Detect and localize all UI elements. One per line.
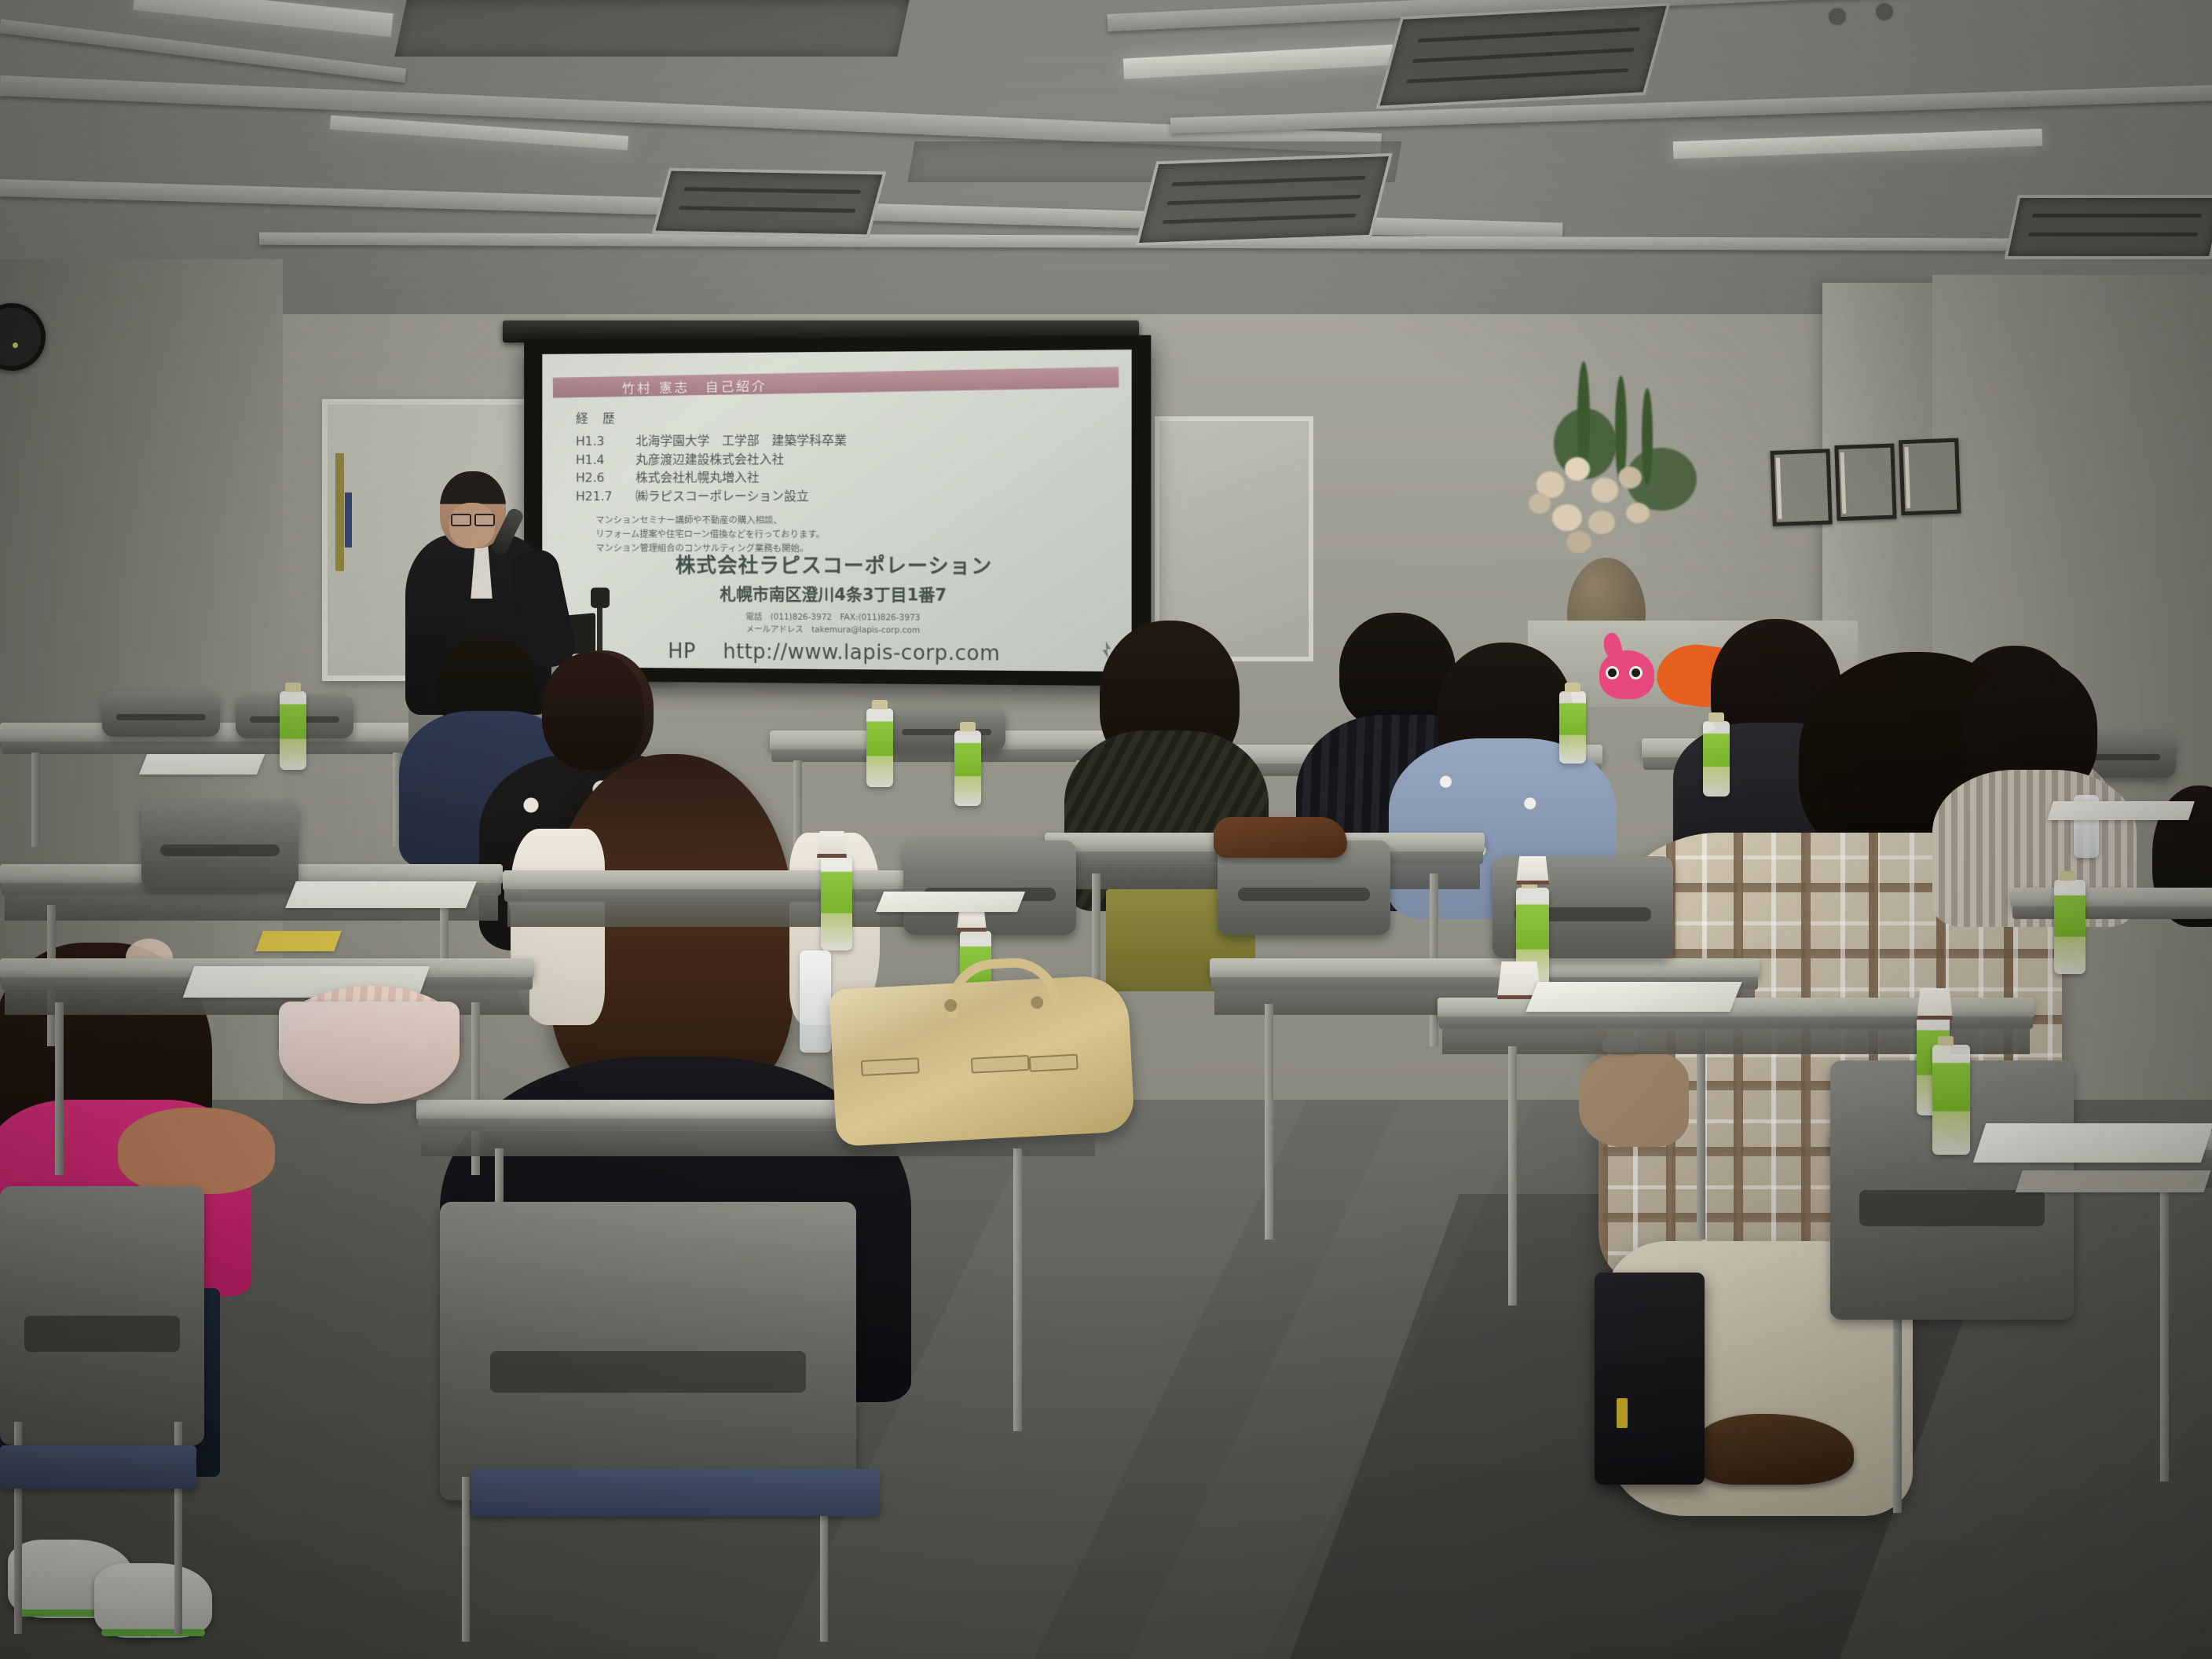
green-tea-bottle [1703,721,1730,797]
slide-note-line: リフォーム提案や住宅ローン借換などを行っております。 [595,527,1109,542]
air-vent [1135,153,1393,246]
handout-paper [139,754,266,775]
handout-paper [2047,801,2195,820]
history-text: 北海学園大学 工学部 建築学科卒業 [635,431,847,450]
whiteboard-marker [345,493,352,548]
company-email: メールアドレス takemura@lapis-corp.com [542,622,1131,637]
handout-paper [255,931,341,951]
air-vent [2004,195,2212,259]
whiteboard-marker [335,453,344,571]
chair [888,707,1005,751]
paper-cup [1516,856,1549,884]
black-tote-bag [1595,1273,1705,1485]
slide-header-band: 竹村 憲志 自己紹介 [553,367,1119,397]
slide-body: 経 歴 H1.3 北海学園大学 工学部 建築学科卒業 H1.4 丸彦渡辺建設株式… [576,405,1109,556]
green-tea-bottle [2054,880,2086,974]
chair [141,801,298,888]
gold-handbag [829,974,1135,1147]
certificate-frame [1770,449,1832,526]
paper-cup [1917,988,1953,1020]
certificate-frame [1834,444,1896,522]
green-tea-bottle [1559,691,1586,764]
desk [2011,888,2212,958]
presentation-slide: 竹村 憲志 自己紹介 経 歴 H1.3 北海学園大学 工学部 建築学科卒業 H1… [542,350,1131,672]
green-tea-bottle [280,691,306,770]
history-text: 丸彦渡辺建設株式会社入社 [635,450,784,469]
chair-seat [0,1445,196,1489]
pink-mascot-icon [1599,650,1654,699]
history-row: H1.4 丸彦渡辺建設株式会社入社 [576,449,1109,469]
company-address: 札幌市南区澄川4条3丁目1番7 [542,581,1131,607]
slide-section-label: 経 歴 [576,405,1109,427]
slide-note-line: マンションセミナー講師や不動産の購入相談、 [595,513,1109,528]
hp-label: HP [668,640,696,664]
flower-arrangement [1516,361,1705,573]
history-text: 株式会社札幌丸増入社 [635,469,759,488]
chair [440,1202,856,1500]
eyeglasses-icon [451,514,495,523]
handout-paper [1973,1123,2212,1163]
green-tea-bottle [1932,1045,1970,1155]
water-bottle [800,950,831,1053]
handout-paper [876,892,1026,912]
handout-paper [2015,1170,2210,1192]
paper-cup [817,831,847,858]
cream-handbag [279,1002,460,1104]
history-year: H1.4 [576,450,635,469]
chair [0,1186,204,1445]
air-vent [651,168,886,238]
history-text: ㈱ラピスコーポレーション設立 [635,487,809,506]
history-row: H1.3 北海学園大学 工学部 建築学科卒業 [576,430,1109,451]
history-year: H2.6 [576,469,635,488]
brown-handbag [1214,817,1347,858]
hp-url: http://www.lapis-corp.com [723,640,1000,666]
air-vent [1375,2,1670,109]
sprinkler-head [1877,5,1892,19]
handout-paper [1525,982,1741,1012]
sprinkler-head [1830,9,1844,24]
chair [102,691,220,737]
certificate-frame [1899,438,1961,516]
wall-certificates [1770,445,1953,522]
handout-paper [285,881,477,908]
history-row: H2.6 株式会社札幌丸増入社 [576,468,1109,488]
history-year: H1.3 [576,432,635,451]
ceiling-panel [394,0,909,57]
green-tea-bottle [954,731,981,806]
projection-screen: 竹村 憲志 自己紹介 経 歴 H1.3 北海学園大学 工学部 建築学科卒業 H1… [524,335,1151,687]
history-row: H21.7 ㈱ラピスコーポレーション設立 [576,487,1109,506]
green-tea-bottle [866,709,893,787]
chair-seat [471,1469,880,1516]
history-year: H21.7 [576,487,635,505]
chair [903,840,1076,935]
seminar-room-photo: 竹村 憲志 自己紹介 経 歴 H1.3 北海学園大学 工学部 建築学科卒業 H1… [0,0,2212,1659]
sneaker [94,1563,212,1638]
company-name: 株式会社ラピスコーポレーション [542,549,1131,580]
green-tea-bottle [821,856,852,950]
slide-header-text: 竹村 憲志 自己紹介 [621,375,767,397]
slide-company-block: 株式会社ラピスコーポレーション 札幌市南区澄川4条3丁目1番7 電話 (011)… [542,549,1131,667]
